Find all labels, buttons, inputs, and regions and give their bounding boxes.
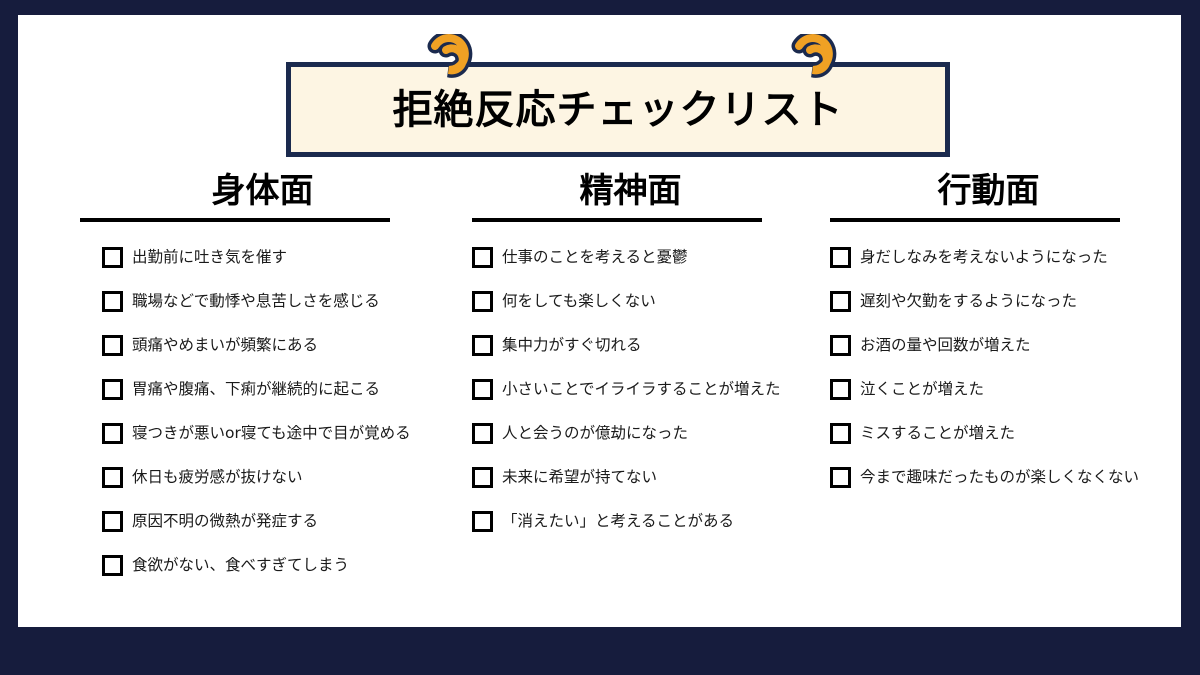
checklist-items-mental: 仕事のことを考えると憂鬱 何をしても楽しくない 集中力がすぐ切れる 小さいことで… bbox=[458, 246, 803, 532]
checklist-column-behavioral: 行動面 身だしなみを考えないようになった 遅刻や欠勤をするようになった お酒の量… bbox=[816, 173, 1161, 598]
checkbox-icon[interactable] bbox=[102, 335, 123, 356]
list-item[interactable]: 「消えたい」と考えることがある bbox=[472, 510, 803, 532]
checkbox-icon[interactable] bbox=[472, 379, 493, 400]
checkbox-icon[interactable] bbox=[472, 247, 493, 268]
checkbox-icon[interactable] bbox=[472, 423, 493, 444]
list-item-label: 小さいことでイライラすることが増えた bbox=[502, 380, 781, 399]
list-item-label: 頭痛やめまいが頻繁にある bbox=[132, 336, 318, 355]
list-item-label: 身だしなみを考えないようになった bbox=[860, 248, 1108, 267]
list-item[interactable]: ミスすることが増えた bbox=[830, 422, 1161, 444]
checkbox-icon[interactable] bbox=[472, 291, 493, 312]
column-heading-behavioral: 行動面 bbox=[816, 173, 1161, 218]
list-item-label: 原因不明の微熱が発症する bbox=[132, 512, 318, 531]
list-item-label: 「消えたい」と考えることがある bbox=[502, 512, 734, 531]
checkbox-icon[interactable] bbox=[830, 291, 851, 312]
list-item[interactable]: 今まで趣味だったものが楽しくなくない bbox=[830, 466, 1161, 488]
list-item[interactable]: お酒の量や回数が増えた bbox=[830, 334, 1161, 356]
list-item[interactable]: 胃痛や腹痛、下痢が継続的に起こる bbox=[102, 378, 445, 400]
checkbox-icon[interactable] bbox=[830, 467, 851, 488]
list-item-label: お酒の量や回数が増えた bbox=[860, 336, 1031, 355]
list-item[interactable]: 原因不明の微熱が発症する bbox=[102, 510, 445, 532]
list-item-label: 出勤前に吐き気を催す bbox=[132, 248, 287, 267]
checkbox-icon[interactable] bbox=[830, 379, 851, 400]
list-item-label: 胃痛や腹痛、下痢が継続的に起こる bbox=[132, 380, 380, 399]
list-item[interactable]: 泣くことが増えた bbox=[830, 378, 1161, 400]
list-item-label: 遅刻や欠勤をするようになった bbox=[860, 292, 1077, 311]
list-item-label: 食欲がない、食べすぎてしまう bbox=[132, 556, 349, 575]
list-item[interactable]: 食欲がない、食べすぎてしまう bbox=[102, 554, 445, 576]
column-rule bbox=[80, 218, 390, 222]
checkbox-icon[interactable] bbox=[830, 247, 851, 268]
column-rule bbox=[472, 218, 762, 222]
checkbox-icon[interactable] bbox=[102, 511, 123, 532]
checkbox-icon[interactable] bbox=[102, 247, 123, 268]
list-item-label: 休日も疲労感が抜けない bbox=[132, 468, 303, 487]
column-heading-physical: 身体面 bbox=[80, 173, 445, 218]
list-item-label: 今まで趣味だったものが楽しくなくない bbox=[860, 468, 1139, 487]
checkbox-icon[interactable] bbox=[102, 291, 123, 312]
list-item-label: 職場などで動悸や息苦しさを感じる bbox=[132, 292, 380, 311]
list-item[interactable]: 集中力がすぐ切れる bbox=[472, 334, 803, 356]
list-item[interactable]: 頭痛やめまいが頻繁にある bbox=[102, 334, 445, 356]
list-item[interactable]: 未来に希望が持てない bbox=[472, 466, 803, 488]
list-item-label: 泣くことが増えた bbox=[860, 380, 984, 399]
checklist-items-behavioral: 身だしなみを考えないようになった 遅刻や欠勤をするようになった お酒の量や回数が… bbox=[816, 246, 1161, 488]
content-panel: 拒絶反応チェックリスト 身体面 出勤前に吐き気を催す bbox=[18, 15, 1181, 627]
checkbox-icon[interactable] bbox=[102, 423, 123, 444]
page-title: 拒絶反応チェックリスト bbox=[393, 90, 844, 130]
title-banner: 拒絶反応チェックリスト bbox=[286, 62, 950, 157]
list-item[interactable]: 仕事のことを考えると憂鬱 bbox=[472, 246, 803, 268]
checklist-columns: 身体面 出勤前に吐き気を催す 職場などで動悸や息苦しさを感じる 頭痛やめまいが頻… bbox=[18, 173, 1181, 598]
checkbox-icon[interactable] bbox=[830, 335, 851, 356]
list-item[interactable]: 何をしても楽しくない bbox=[472, 290, 803, 312]
list-item[interactable]: 遅刻や欠勤をするようになった bbox=[830, 290, 1161, 312]
list-item-label: 集中力がすぐ切れる bbox=[502, 336, 642, 355]
list-item-label: ミスすることが増えた bbox=[860, 424, 1015, 443]
list-item[interactable]: 人と会うのが億劫になった bbox=[472, 422, 803, 444]
checklist-items-physical: 出勤前に吐き気を催す 職場などで動悸や息苦しさを感じる 頭痛やめまいが頻繁にある… bbox=[80, 246, 445, 576]
checkbox-icon[interactable] bbox=[102, 467, 123, 488]
list-item-label: 未来に希望が持てない bbox=[502, 468, 657, 487]
checkbox-icon[interactable] bbox=[472, 511, 493, 532]
list-item[interactable]: 休日も疲労感が抜けない bbox=[102, 466, 445, 488]
list-item[interactable]: 出勤前に吐き気を催す bbox=[102, 246, 445, 268]
list-item[interactable]: 小さいことでイライラすることが増えた bbox=[472, 378, 803, 400]
list-item-label: 何をしても楽しくない bbox=[502, 292, 656, 311]
list-item-label: 人と会うのが億劫になった bbox=[502, 424, 688, 443]
list-item-label: 寝つきが悪いor寝ても途中で目が覚める bbox=[132, 424, 411, 443]
title-banner-box: 拒絶反応チェックリスト bbox=[286, 62, 950, 157]
checklist-column-mental: 精神面 仕事のことを考えると憂鬱 何をしても楽しくない 集中力がすぐ切れる bbox=[458, 173, 803, 598]
checkbox-icon[interactable] bbox=[472, 335, 493, 356]
column-heading-mental: 精神面 bbox=[458, 173, 803, 218]
column-rule bbox=[830, 218, 1120, 222]
slide-canvas: 拒絶反応チェックリスト 身体面 出勤前に吐き気を催す bbox=[0, 0, 1200, 675]
checklist-column-physical: 身体面 出勤前に吐き気を催す 職場などで動悸や息苦しさを感じる 頭痛やめまいが頻… bbox=[80, 173, 445, 598]
list-item[interactable]: 職場などで動悸や息苦しさを感じる bbox=[102, 290, 445, 312]
checkbox-icon[interactable] bbox=[102, 379, 123, 400]
list-item-label: 仕事のことを考えると憂鬱 bbox=[502, 248, 688, 267]
list-item[interactable]: 身だしなみを考えないようになった bbox=[830, 246, 1161, 268]
checkbox-icon[interactable] bbox=[830, 423, 851, 444]
checkbox-icon[interactable] bbox=[472, 467, 493, 488]
checkbox-icon[interactable] bbox=[102, 555, 123, 576]
list-item[interactable]: 寝つきが悪いor寝ても途中で目が覚める bbox=[102, 422, 445, 444]
